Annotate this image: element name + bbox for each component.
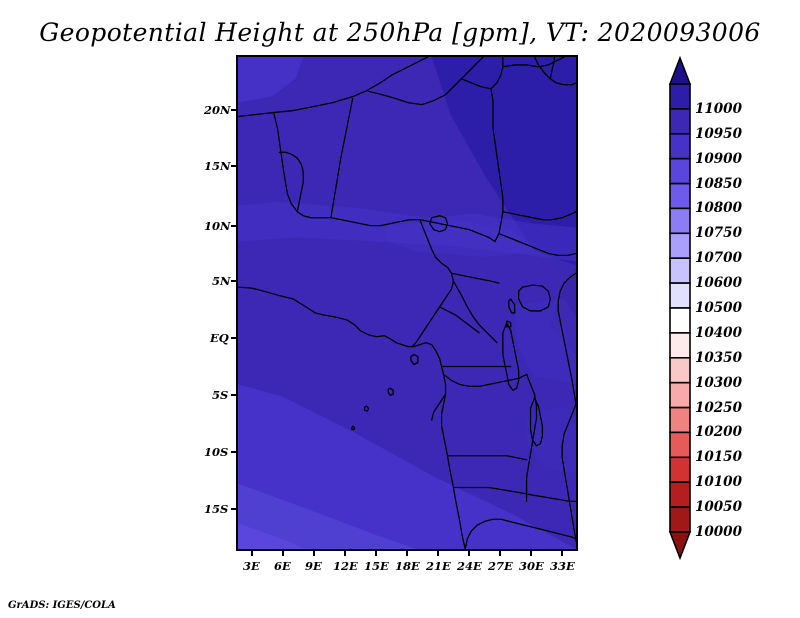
x-tick-mark-6E [282,551,284,556]
x-tick-label-9E: 9E [305,559,322,573]
colorbar-label-11000: 11000 [695,101,742,117]
y-tick-label-5S: 5S [212,388,228,402]
y-tick-label-15S: 15S [204,502,228,516]
y-tick-mark-5S [231,394,236,396]
x-tick-label-15E: 15E [364,559,389,573]
colorbar-label-10200: 10200 [695,424,742,440]
x-tick-mark-12E [344,551,346,556]
y-tick-label-5N: 5N [212,274,231,288]
x-tick-label-27E: 27E [488,559,513,573]
colorbar-label-10950: 10950 [695,126,742,142]
y-tick-label-15N: 15N [204,159,231,173]
y-tick-mark-20N [231,109,236,111]
x-tick-label-3E: 3E [243,559,260,573]
x-tick-mark-33E [561,551,563,556]
x-tick-label-30E: 30E [519,559,544,573]
x-tick-mark-15E [375,551,377,556]
colorbar-label-10050: 10050 [695,499,742,515]
colorbar-label-10100: 10100 [695,474,742,490]
x-tick-mark-9E [313,551,315,556]
y-tick-label-20N: 20N [204,103,231,117]
colorbar-label-10800: 10800 [695,200,742,216]
x-tick-mark-27E [499,551,501,556]
x-tick-label-21E: 21E [426,559,451,573]
y-tick-mark-15N [231,165,236,167]
x-tick-label-24E: 24E [457,559,482,573]
x-tick-label-12E: 12E [333,559,358,573]
colorbar-label-10600: 10600 [695,275,742,291]
colorbar-label-10000: 10000 [695,524,742,540]
colorbar-label-10500: 10500 [695,300,742,316]
x-tick-mark-21E [437,551,439,556]
y-tick-label-10S: 10S [204,445,228,459]
x-tick-label-33E: 33E [550,559,575,573]
y-tick-label-EQ: EQ [210,331,229,345]
x-tick-mark-3E [251,551,253,556]
colorbar-swatches [669,58,691,558]
geopotential-height-colorbar[interactable]: 11000 10950 10900 10850 10800 10750 1070… [669,58,691,558]
colorbar-label-10900: 10900 [695,151,742,167]
x-tick-label-18E: 18E [395,559,420,573]
x-tick-label-6E: 6E [274,559,291,573]
map-plot-area[interactable] [236,55,578,551]
coastline-and-border-overlay [238,57,576,549]
y-tick-label-10N: 10N [204,219,231,233]
page-title: Geopotential Height at 250hPa [gpm], VT:… [0,18,800,47]
colorbar-label-10850: 10850 [695,176,742,192]
colorbar-label-10300: 10300 [695,375,742,391]
y-tick-mark-10N [231,225,236,227]
colorbar-label-10400: 10400 [695,325,742,341]
colorbar-label-10750: 10750 [695,225,742,241]
y-tick-mark-15S [231,508,236,510]
x-tick-mark-30E [530,551,532,556]
colorbar-label-10700: 10700 [695,250,742,266]
colorbar-label-10350: 10350 [695,350,742,366]
x-tick-mark-24E [468,551,470,556]
colorbar-label-10250: 10250 [695,400,742,416]
y-tick-mark-EQ [231,337,236,339]
colorbar-label-10150: 10150 [695,449,742,465]
y-tick-mark-5N [231,280,236,282]
y-tick-mark-10S [231,451,236,453]
attribution-footer: GrADS: IGES/COLA [8,600,116,611]
x-tick-mark-18E [406,551,408,556]
